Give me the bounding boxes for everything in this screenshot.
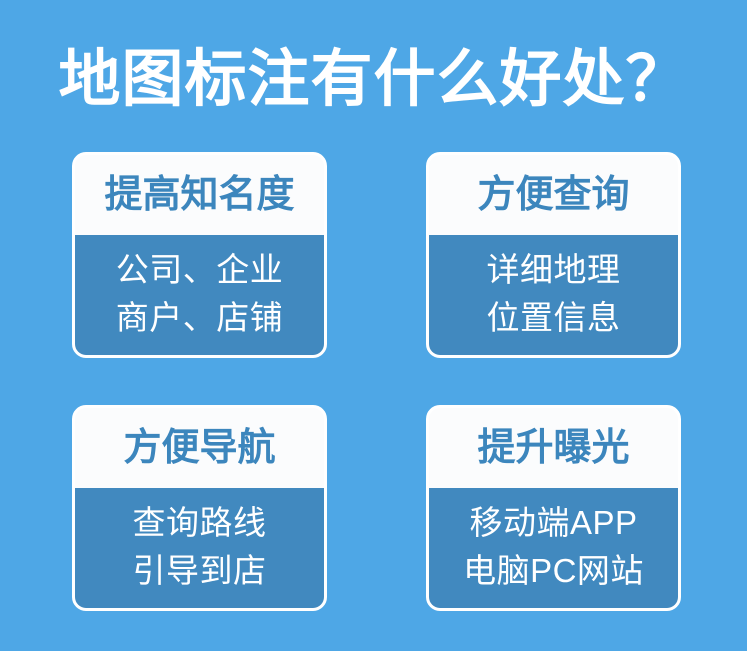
benefit-card-easy-navigation[interactable]: 方便导航 查询路线 引导到店 xyxy=(72,405,327,611)
benefit-card-easy-search[interactable]: 方便查询 详细地理 位置信息 xyxy=(426,152,681,358)
benefit-card-grid: 提高知名度 公司、企业 商户、店铺 方便查询 详细地理 位置信息 方便导航 查询… xyxy=(72,152,681,611)
benefit-card-header: 方便导航 xyxy=(75,408,324,488)
benefit-card-body-line-2: 引导到店 xyxy=(133,547,267,595)
page-title: 地图标注有什么好处？ xyxy=(0,44,747,116)
benefit-card-header: 方便查询 xyxy=(429,155,678,235)
benefit-card-body-line-2: 电脑PC网站 xyxy=(463,547,644,595)
benefit-card-body-line-1: 查询路线 xyxy=(133,499,267,547)
benefit-card-body-line-1: 公司、企业 xyxy=(116,246,284,294)
benefit-card-body-line-1: 移动端APP xyxy=(469,499,637,547)
benefit-card-body: 详细地理 位置信息 xyxy=(429,235,678,355)
benefit-card-body-line-2: 位置信息 xyxy=(487,294,621,342)
benefit-card-body: 移动端APP 电脑PC网站 xyxy=(429,488,678,608)
benefit-card-header: 提升曝光 xyxy=(429,408,678,488)
benefit-card-more-exposure[interactable]: 提升曝光 移动端APP 电脑PC网站 xyxy=(426,405,681,611)
benefit-card-header: 提高知名度 xyxy=(75,155,324,235)
benefit-card-brand-awareness[interactable]: 提高知名度 公司、企业 商户、店铺 xyxy=(72,152,327,358)
poster-canvas: 地图标注有什么好处？ 提高知名度 公司、企业 商户、店铺 方便查询 详细地理 位… xyxy=(0,0,747,651)
benefit-card-body: 公司、企业 商户、店铺 xyxy=(75,235,324,355)
benefit-card-body-line-1: 详细地理 xyxy=(487,246,621,294)
benefit-card-body-line-2: 商户、店铺 xyxy=(116,294,284,342)
benefit-card-body: 查询路线 引导到店 xyxy=(75,488,324,608)
